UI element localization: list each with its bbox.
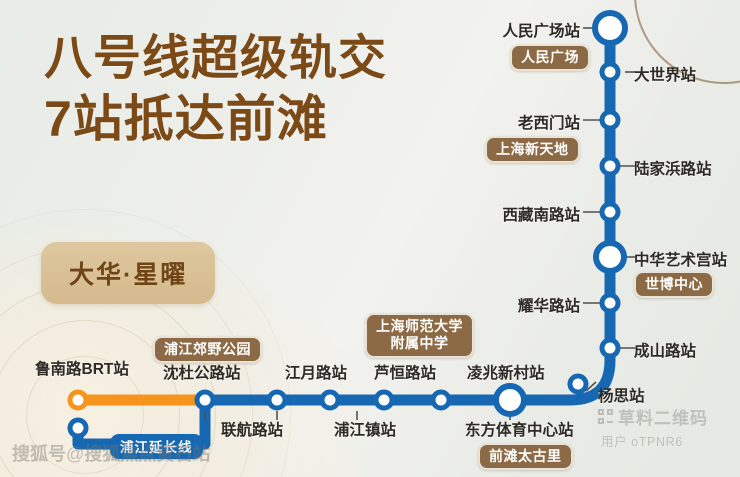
badge-shanghai-shifan-daxue-fushu-zhongxue: 上海师范大学 附属中学 [365, 313, 474, 358]
station-dot-yangsi[interactable] [570, 376, 586, 392]
headline-line-2: 7站抵达前滩 [44, 93, 387, 146]
station-dot-luheng-lu[interactable] [376, 392, 392, 408]
badge-pujiang-jiaoye-gongyuan: 浦江郊野公园 [153, 336, 262, 363]
watermark-caoliao-title: 草料二维码 [618, 404, 708, 429]
badge-qiantan-taikooli: 前滩太古里 [478, 443, 573, 470]
badge-line-2: 附属中学 [376, 335, 463, 352]
station-dot-dongfang-tiyu-zhongxin[interactable] [496, 386, 524, 414]
watermark-caoliao-user: 用户 oTPNR6 [598, 431, 708, 450]
headline-block: 八号线超级轨交 7站抵达前滩 [44, 34, 387, 146]
station-dot-renmin-guangchang[interactable] [595, 13, 625, 43]
badge-shanghai-xintiandi: 上海新天地 [485, 136, 580, 163]
brand-badge: 大华·星曜 [41, 242, 215, 304]
station-label-laoximen[interactable]: 老西门站 [440, 111, 580, 133]
station-label-dongfang-tiyu-zhongxin[interactable]: 东方体育中心站 [465, 418, 574, 440]
headline-line-1: 八号线超级轨交 [44, 34, 387, 85]
station-label-luheng-lu[interactable]: 芦恒路站 [374, 361, 436, 383]
badge-shibo-zhongxin: 世博中心 [634, 271, 714, 298]
station-dot-zhonghua-yishugong[interactable] [596, 243, 624, 271]
poster-canvas: 八号线超级轨交 7站抵达前滩 大华·星曜 [0, 0, 740, 477]
station-label-dashijie[interactable]: 大世界站 [634, 63, 696, 85]
station-dot-lujiabang-lu[interactable] [602, 158, 618, 174]
badge-line-1: 上海师范大学 [376, 318, 463, 335]
station-dot-lingzhao-xincun[interactable] [433, 392, 449, 408]
station-label-zhonghua-yishugong[interactable]: 中华艺术宫站 [634, 248, 727, 270]
station-label-lianhang-lu[interactable]: 联航路站 [221, 418, 283, 440]
station-label-chengshan-lu[interactable]: 成山路站 [634, 339, 696, 361]
station-dot-lunan-lu-brt[interactable] [70, 392, 86, 408]
station-label-shendu-gonglu[interactable]: 沈杜公路站 [163, 361, 241, 383]
station-label-yangsi[interactable]: 杨思站 [598, 384, 645, 406]
station-dot-shendu-gonglu[interactable] [197, 392, 213, 408]
station-dot-jiangyue-lu[interactable] [269, 392, 285, 408]
station-label-pujiang-zhen[interactable]: 浦江镇站 [334, 418, 396, 440]
station-dot-yaohua-lu[interactable] [602, 295, 618, 311]
station-dot-xizang-nanlu[interactable] [602, 204, 618, 220]
station-dot-pujiang-extension-terminal[interactable] [70, 420, 86, 436]
station-dot-chengshan-lu[interactable] [602, 340, 618, 356]
station-label-jiangyue-lu[interactable]: 江月路站 [285, 361, 347, 383]
station-label-xizang-nanlu[interactable]: 西藏南路站 [430, 203, 580, 225]
badge-renmin-guangchang: 人民广场 [510, 44, 590, 71]
station-dot-pujiang-zhen[interactable] [322, 392, 338, 408]
station-dot-laoximen[interactable] [602, 112, 618, 128]
station-label-renmin-guangchang[interactable]: 人民广场站 [440, 19, 580, 41]
station-dot-dashijie[interactable] [602, 64, 618, 80]
watermark-sohu-at: @ [66, 444, 84, 464]
station-label-lujiabang-lu[interactable]: 陆家浜路站 [634, 157, 712, 179]
station-label-lunan-lu-brt[interactable]: 鲁南路BRT站 [35, 357, 129, 379]
station-label-lingzhao-xincun[interactable]: 凌兆新村站 [467, 361, 545, 383]
watermark-sohu: 搜狐号@搜狐焦点黄石站 [12, 440, 210, 466]
watermark-sohu-prefix: 搜狐号 [12, 444, 66, 464]
qr-code-icon [598, 409, 613, 424]
watermark-sohu-name: 搜狐焦点黄石站 [84, 444, 210, 464]
watermark-caoliao: 草料二维码 用户 oTPNR6 [598, 404, 708, 450]
